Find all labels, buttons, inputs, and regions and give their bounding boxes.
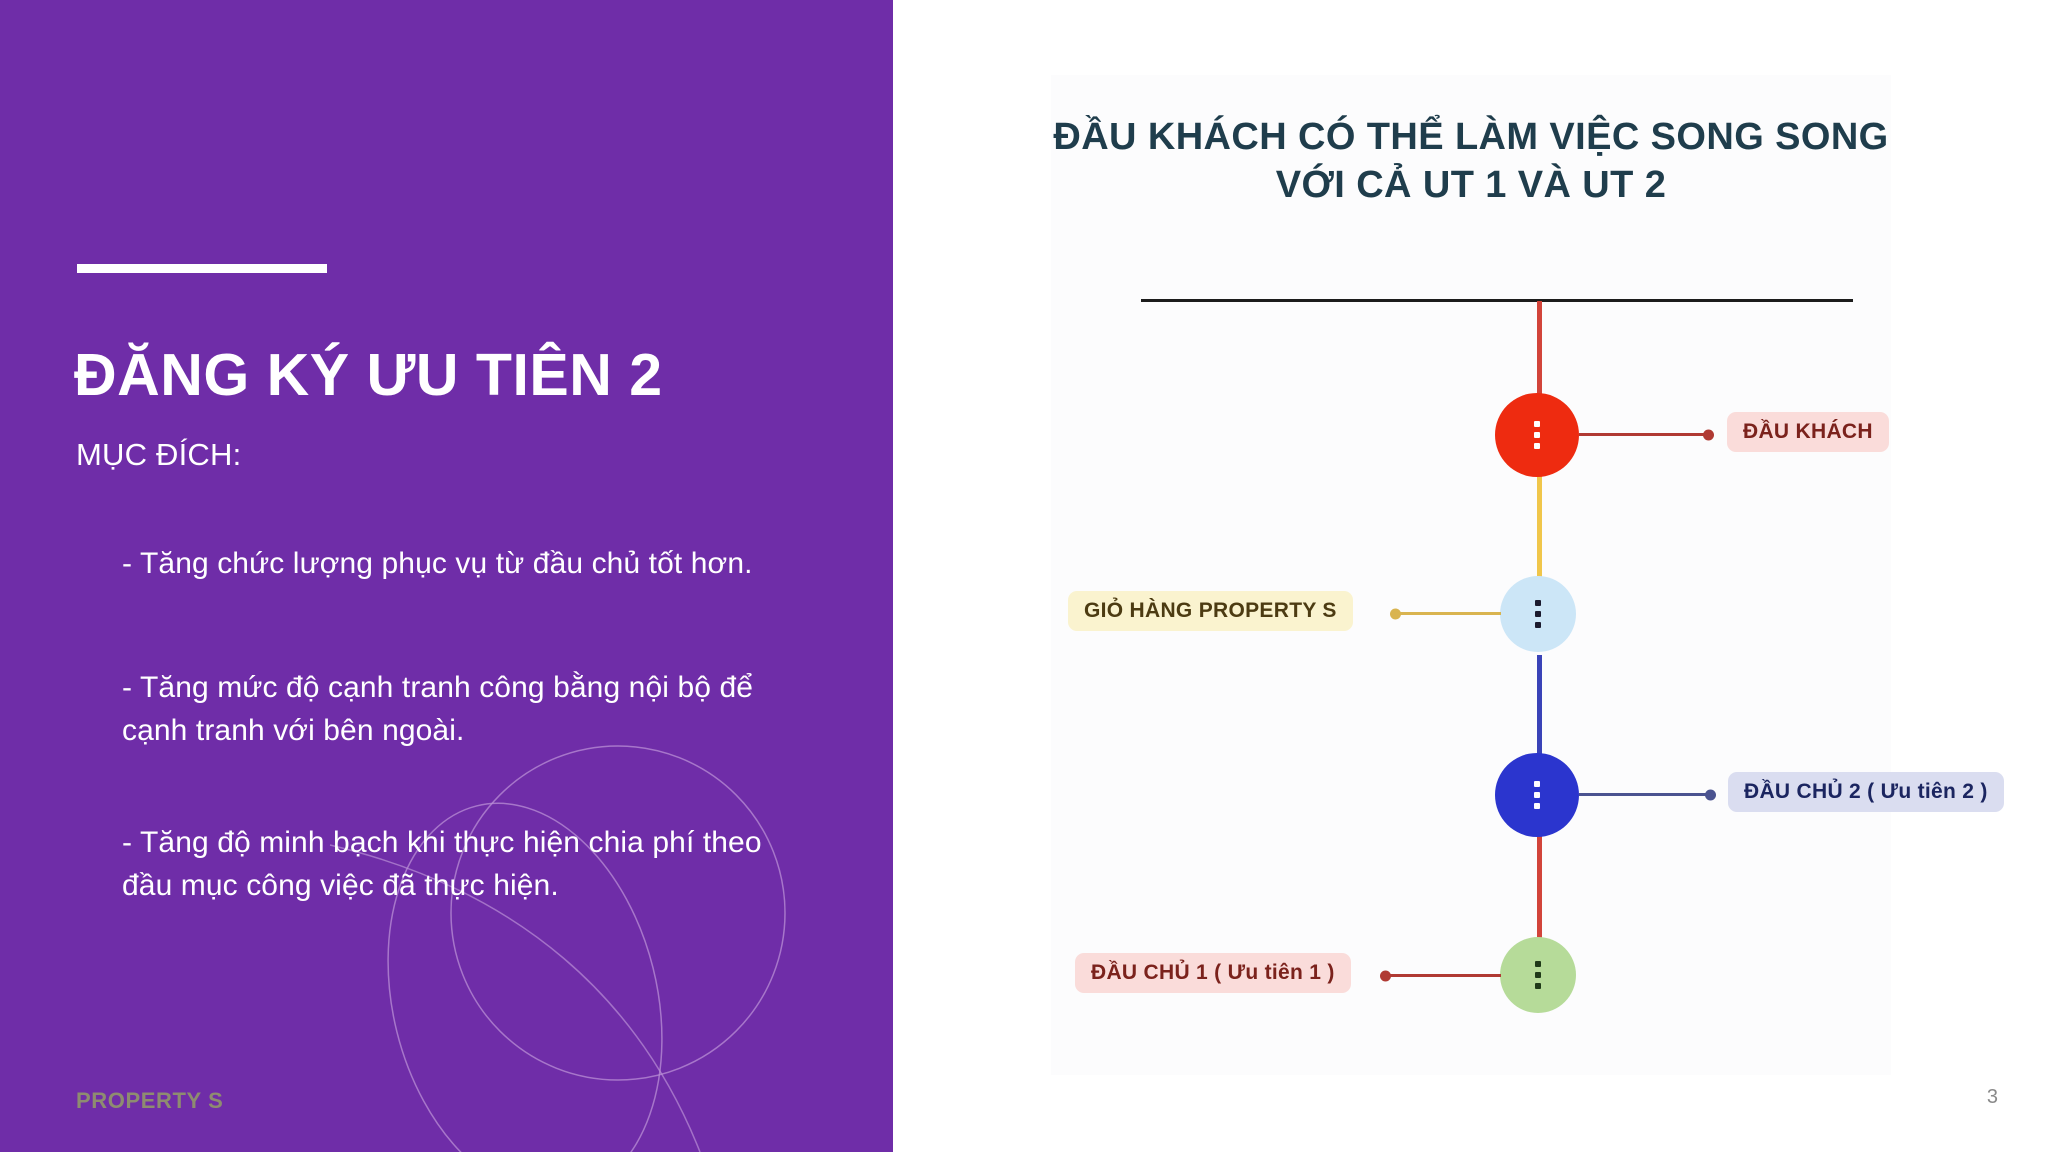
label-dau-khach[interactable]: ĐẦU KHÁCH: [1727, 412, 1889, 452]
connector-dau-khach: [1579, 433, 1713, 436]
page-title: ĐĂNG KÝ ƯU TIÊN 2: [74, 345, 854, 407]
right-white-panel: ĐẦU KHÁCH CÓ THỂ LÀM VIỆC SONG SONG VỚI …: [893, 0, 2048, 1152]
label-gio-hang-property-s[interactable]: GIỎ HÀNG PROPERTY S: [1068, 591, 1353, 631]
node-dau-khach[interactable]: [1495, 393, 1579, 477]
node-dau-chu-2[interactable]: [1495, 753, 1579, 837]
bullet-paragraph-1: - Tăng chức lượng phục vụ từ đầu chủ tốt…: [122, 543, 762, 586]
node-gio-hang-property-s[interactable]: [1500, 576, 1576, 652]
connector-dau-chu-1: [1381, 974, 1501, 977]
spine-segment-1: [1537, 301, 1542, 397]
bullet-paragraph-2: - Tăng mức độ cạnh tranh công bằng nội b…: [122, 667, 762, 752]
diagram-title-underline: [1141, 299, 1853, 302]
connector-endpoint-dot: [1390, 608, 1401, 619]
vertical-dots-icon: [1535, 600, 1541, 628]
spine-segment-2: [1537, 475, 1542, 582]
spine-segment-4: [1537, 835, 1542, 941]
connector-endpoint-dot: [1705, 789, 1716, 800]
label-dau-chu-1[interactable]: ĐẦU CHỦ 1 ( Ưu tiên 1 ): [1075, 953, 1351, 993]
page-number: 3: [1987, 1086, 1998, 1109]
label-dau-chu-2[interactable]: ĐẦU CHỦ 2 ( Ưu tiên 2 ): [1728, 772, 2004, 812]
title-rule-divider: [77, 264, 327, 273]
vertical-dots-icon: [1535, 961, 1541, 989]
slide-canvas: ĐĂNG KÝ ƯU TIÊN 2 MỤC ĐÍCH: - Tăng chức …: [0, 0, 2048, 1152]
diagram-title: ĐẦU KHÁCH CÓ THỂ LÀM VIỆC SONG SONG VỚI …: [1051, 113, 1891, 210]
connector-endpoint-dot: [1703, 429, 1714, 440]
node-dau-chu-1[interactable]: [1500, 937, 1576, 1013]
connector-gio-hang: [1391, 612, 1501, 615]
purpose-label: MỤC ĐÍCH:: [76, 437, 241, 473]
footer-brand-label: PROPERTY S: [76, 1088, 223, 1114]
diagram-image: ĐẦU KHÁCH CÓ THỂ LÀM VIỆC SONG SONG VỚI …: [1051, 75, 1891, 1075]
left-purple-panel: ĐĂNG KÝ ƯU TIÊN 2 MỤC ĐÍCH: - Tăng chức …: [0, 0, 893, 1152]
connector-dau-chu-2: [1579, 793, 1715, 796]
vertical-dots-icon: [1534, 781, 1540, 809]
bullet-paragraph-3: - Tăng độ minh bạch khi thực hiện chia p…: [122, 822, 762, 907]
connector-endpoint-dot: [1380, 970, 1391, 981]
spine-segment-3: [1537, 655, 1542, 761]
vertical-dots-icon: [1534, 421, 1540, 449]
